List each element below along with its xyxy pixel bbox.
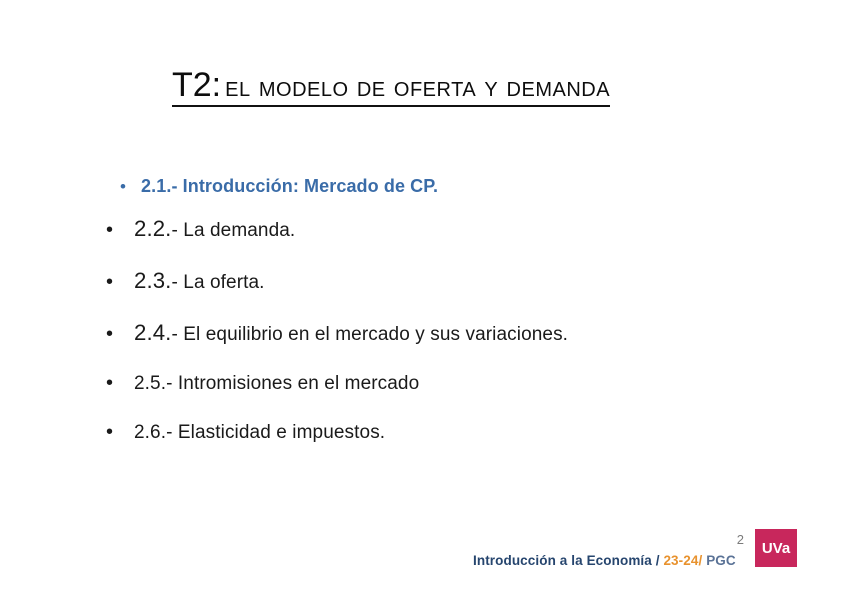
list-item[interactable]: • 2.1.- Introducción: Mercado de CP. [0,176,848,197]
slide-title-rest: El modelo de Oferta y Demanda [225,71,610,102]
uva-logo: UVa [755,529,797,567]
list-item-text: - Introducción: Mercado de CP. [171,176,438,196]
slide-title: T2:El modelo de Oferta y Demanda [172,68,610,107]
list-item-number: 2.3. [134,268,171,293]
list-item-label: 2.6.- Elasticidad e impuestos. [134,422,385,444]
slide-title-lead: T2: [172,66,221,104]
bullet-list: • 2.1.- Introducción: Mercado de CP. • 2… [0,176,848,470]
footer-year-label: 23-24/ [663,553,702,568]
list-item-number: 2.1. [141,176,171,196]
list-item-text: - Intromisiones en el mercado [166,373,419,394]
bullet-point-icon: • [106,421,134,444]
footer-course-label: Introducción a la Economía [473,553,652,568]
list-item-label: 2.1.- Introducción: Mercado de CP. [141,176,438,197]
footer-code-label: PGC [702,553,735,568]
list-item-number: 2.5. [134,373,166,394]
bullet-point-icon: • [106,219,134,242]
list-item-label: 2.3.- La oferta. [134,268,265,294]
list-item[interactable]: • 2.6.- Elasticidad e impuestos. [0,421,848,444]
list-item-number: 2.2. [134,216,171,241]
bullet-point-icon: • [106,372,134,395]
list-item[interactable]: • 2.4.- El equilibrio en el mercado y su… [0,320,848,346]
list-item[interactable]: • 2.5.- Intromisiones en el mercado [0,372,848,395]
list-item-number: 2.4. [134,320,171,345]
list-item-text: - El equilibrio en el mercado y sus vari… [171,324,568,345]
list-item-text: - La oferta. [171,272,264,293]
list-item-label: 2.2.- La demanda. [134,216,295,242]
list-item[interactable]: • 2.3.- La oferta. [0,268,848,294]
footer-separator: / [652,553,664,568]
list-item-number: 2.6. [134,422,166,443]
bullet-point-icon: • [106,323,134,346]
footer-text: Introducción a la Economía / 23-24/ PGC [473,553,736,568]
list-item-label: 2.5.- Intromisiones en el mercado [134,373,419,395]
page-number: 2 [737,532,744,547]
bullet-point-icon: • [106,271,134,294]
list-item[interactable]: • 2.2.- La demanda. [0,216,848,242]
list-item-text: - La demanda. [171,220,295,241]
list-item-text: - Elasticidad e impuestos. [166,422,385,443]
bullet-point-icon: • [120,177,141,197]
list-item-label: 2.4.- El equilibrio en el mercado y sus … [134,320,568,346]
